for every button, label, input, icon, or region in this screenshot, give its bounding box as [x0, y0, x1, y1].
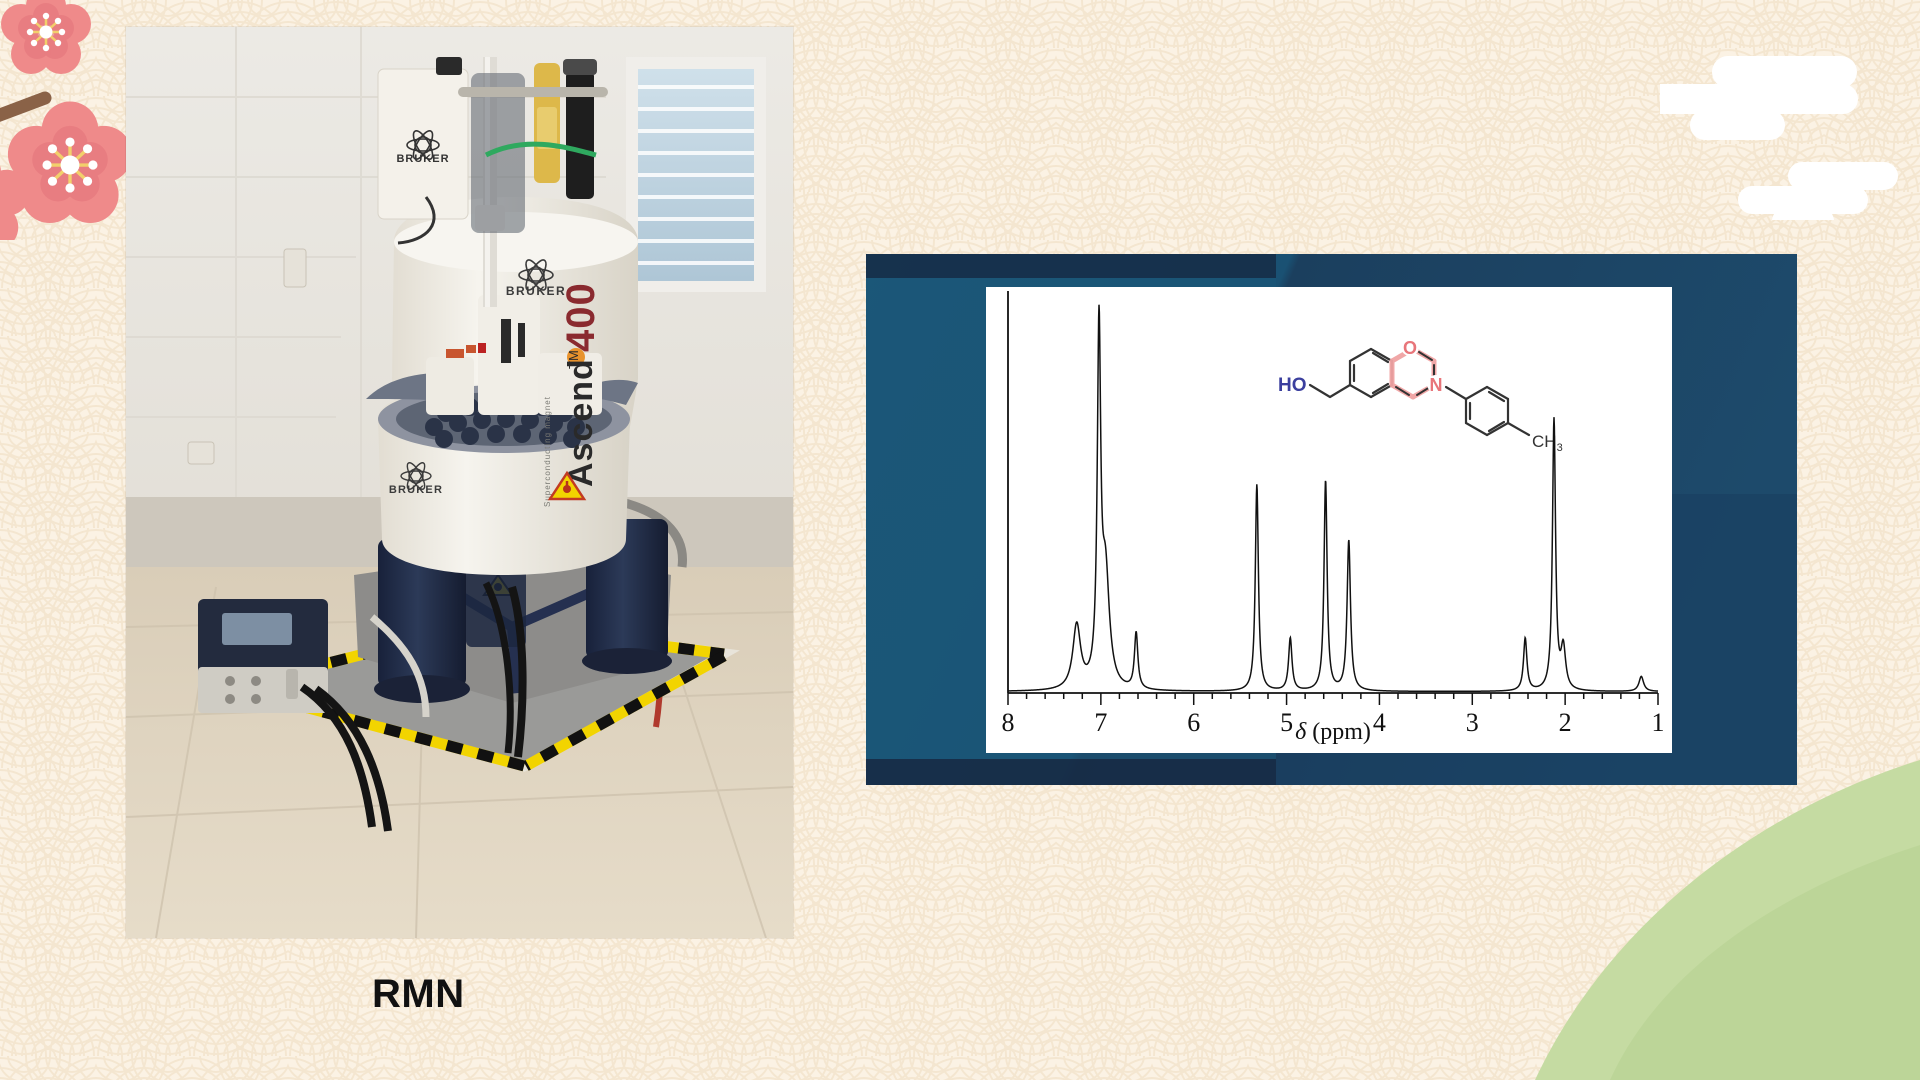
- photo-caption: RMN: [372, 972, 465, 1017]
- svg-text:HO: HO: [1278, 375, 1307, 396]
- svg-text:TM: TM: [566, 350, 581, 369]
- svg-text:Ascend: Ascend: [562, 358, 600, 487]
- x-axis-label: δ (ppm): [1295, 719, 1371, 745]
- x-axis-tick-label: 7: [1094, 708, 1107, 737]
- nmr-spectrum-plot: HO: [986, 287, 1672, 753]
- x-axis-tick-label: 1: [1652, 708, 1665, 737]
- svg-text:N: N: [1430, 375, 1443, 395]
- nmr-spectrum-card: HO: [866, 254, 1797, 785]
- x-axis-tick-label: 2: [1559, 708, 1572, 737]
- x-axis-tick-label: 6: [1187, 708, 1200, 737]
- x-axis-tick-label: 3: [1466, 708, 1479, 737]
- nmr-spectrometer-photo: BRUKER BRUKER Ascend TM 400 Superconduct…: [126, 27, 793, 938]
- svg-text:Superconducting magnet: Superconducting magnet: [543, 396, 552, 507]
- svg-text:400: 400: [559, 282, 603, 352]
- x-axis-tick-label: 8: [1002, 708, 1015, 737]
- x-axis-tick-label: 5: [1280, 708, 1293, 737]
- x-axis-tick-label: 4: [1373, 708, 1386, 737]
- svg-text:O: O: [1403, 338, 1417, 358]
- svg-text:BRUKER: BRUKER: [389, 484, 443, 496]
